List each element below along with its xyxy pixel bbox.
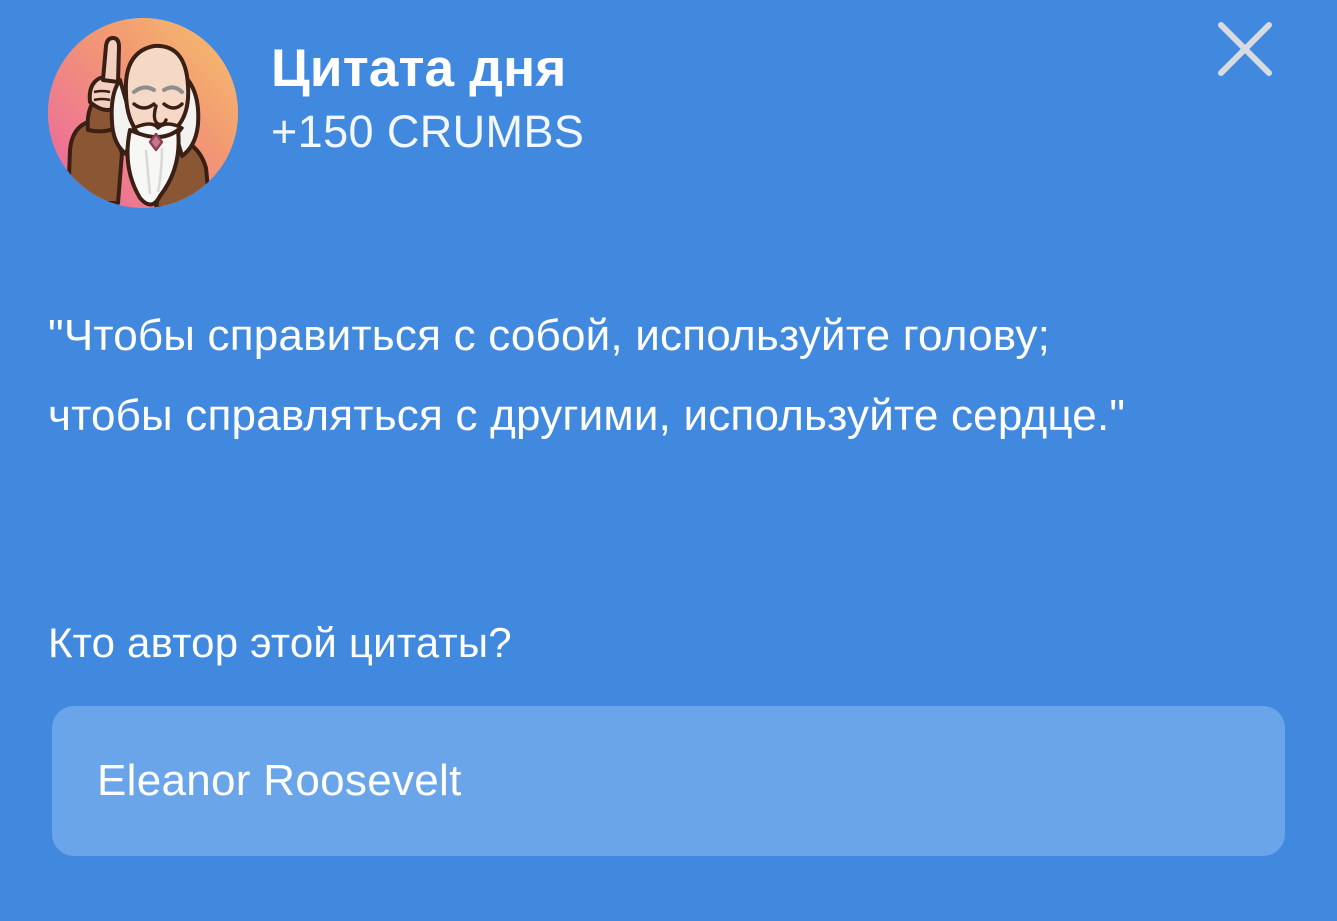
card-header: Цитата дня +150 CRUMBS — [48, 18, 1188, 218]
reward-label: +150 CRUMBS — [271, 107, 584, 157]
close-button[interactable] — [1203, 8, 1287, 90]
answer-input[interactable]: Eleanor Roosevelt — [52, 706, 1285, 856]
quote-text: "Чтобы справиться с собой, используйте г… — [48, 296, 1168, 456]
page-title: Цитата дня — [271, 40, 584, 98]
quote-question: Кто автор этой цитаты? — [48, 617, 512, 669]
close-icon — [1217, 21, 1273, 77]
sage-avatar-icon — [48, 18, 238, 208]
answer-input-value: Eleanor Roosevelt — [97, 755, 462, 807]
quote-of-the-day-card: Цитата дня +150 CRUMBS "Чтобы справиться… — [0, 0, 1337, 921]
header-text-group: Цитата дня +150 CRUMBS — [271, 18, 584, 157]
avatar — [48, 18, 238, 208]
